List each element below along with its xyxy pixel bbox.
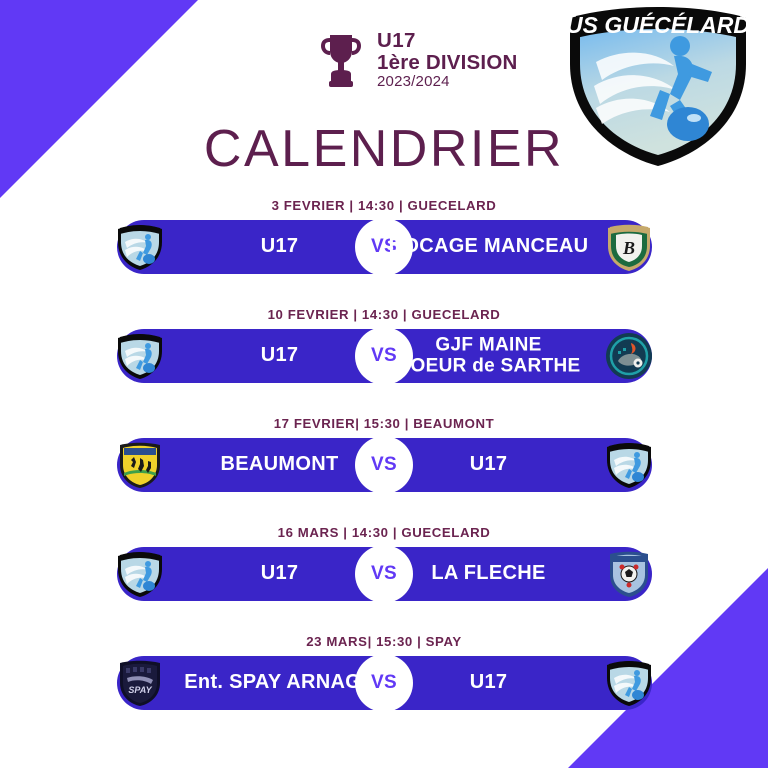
away-crest-slot (602, 547, 656, 601)
page-title: CALENDRIER (0, 119, 768, 179)
trophy-icon (318, 32, 364, 88)
competition-division: 1ère DIVISION (377, 52, 517, 74)
away-team-name: GJF MAINE COEUR de SARTHE (378, 335, 600, 376)
list-item: 17 FEVRIER| 15:30 | BEAUMONT (0, 416, 768, 492)
away-crest-slot: B (602, 220, 656, 274)
match-meta: 16 MARS | 14:30 | GUECELARD (0, 525, 768, 540)
away-team-name: U17 (378, 672, 600, 694)
home-crest-slot (113, 438, 167, 492)
match-meta: 3 FEVRIER | 14:30 | GUECELARD (0, 198, 768, 213)
club-name-text: US GUÉCÉLARD (566, 11, 750, 38)
gjf-maine-coeur-de-sarthe-crest-icon (604, 331, 654, 381)
match-row[interactable]: U17 VS LA FLECHE (117, 547, 652, 601)
match-meta: 17 FEVRIER| 15:30 | BEAUMONT (0, 416, 768, 431)
away-team-name: LA FLECHE (378, 563, 600, 585)
away-crest-slot (602, 656, 656, 710)
away-crest-slot (602, 329, 656, 383)
match-meta: 23 MARS| 15:30 | SPAY (0, 634, 768, 649)
us-guecelard-crest-icon (115, 222, 165, 272)
ent-spay-arnage-crest-icon: SPAY (115, 658, 165, 708)
match-meta: 10 FEVRIER | 14:30 | GUECELARD (0, 307, 768, 322)
la-fleche-crest-icon (604, 549, 654, 599)
competition-category: U17 (377, 30, 517, 52)
beaumont-crest-icon (115, 440, 165, 490)
us-guecelard-crest-icon (115, 549, 165, 599)
us-guecelard-crest-icon (115, 331, 165, 381)
bocage-manceau-crest-icon: B (604, 222, 654, 272)
match-row[interactable]: SPAY Ent. SPAY ARNAGE VS U17 (117, 656, 652, 710)
match-row[interactable]: BEAUMONT VS U17 (117, 438, 652, 492)
match-row[interactable]: U17 VS GJF MAINE COEUR de SARTHE (117, 329, 652, 383)
home-crest-slot (113, 547, 167, 601)
home-crest-slot: SPAY (113, 656, 167, 710)
list-item: 16 MARS | 14:30 | GUECELARD (0, 525, 768, 601)
us-guecelard-crest-icon (604, 440, 654, 490)
svg-text:SPAY: SPAY (128, 685, 152, 695)
list-item: 23 MARS| 15:30 | SPAY SPAY (0, 634, 768, 710)
list-item: 3 FEVRIER | 14:30 | GUECELARD (0, 198, 768, 274)
away-team-name: BOCAGE MANCEAU (378, 236, 600, 258)
home-crest-slot (113, 329, 167, 383)
calendar-poster: U17 1ère DIVISION 2023/2024 US GUÉCÉLARD (0, 0, 768, 768)
competition-badge-text: U17 1ère DIVISION 2023/2024 (377, 30, 517, 90)
us-guecelard-crest-icon (604, 658, 654, 708)
home-crest-slot (113, 220, 167, 274)
competition-badge: U17 1ère DIVISION 2023/2024 (318, 30, 517, 90)
away-team-name: U17 (378, 454, 600, 476)
svg-text:B: B (621, 238, 634, 258)
competition-season: 2023/2024 (377, 74, 517, 90)
away-crest-slot (602, 438, 656, 492)
match-list: 3 FEVRIER | 14:30 | GUECELARD (0, 198, 768, 710)
list-item: 10 FEVRIER | 14:30 | GUECELARD (0, 307, 768, 383)
match-row[interactable]: U17 VS BOCAGE MANCEAU B (117, 220, 652, 274)
